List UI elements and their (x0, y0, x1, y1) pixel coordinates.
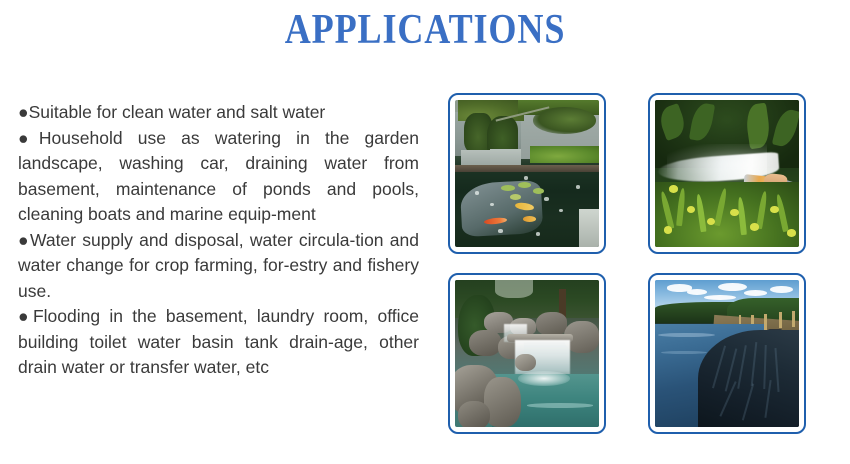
koi-fish-yellow (523, 216, 536, 222)
lily-pad (510, 194, 522, 200)
water-ripple (527, 403, 593, 407)
fence-post (764, 314, 767, 330)
rock-waterfall-photo (455, 280, 599, 427)
application-photo-grid (448, 93, 806, 434)
page-title: APPLICATIONS (60, 8, 791, 52)
applications-page: APPLICATIONS ●Suitable for clean water a… (0, 0, 850, 464)
photo-frame-rock-waterfall (448, 273, 606, 434)
hanging-vine (533, 107, 596, 133)
rock (469, 330, 501, 356)
fence-post (792, 311, 795, 327)
yellow-bud (664, 226, 673, 233)
water-sparkle (576, 185, 580, 189)
pond-curb (579, 209, 599, 247)
water-sparkle (498, 229, 502, 233)
cloud (704, 295, 736, 300)
water-sparkle (544, 197, 548, 201)
fence-post (779, 312, 782, 328)
water-sparkle (524, 176, 528, 180)
bullet-paragraph-1: ●Suitable for clean water and salt water (18, 100, 419, 126)
yellow-bud (770, 206, 779, 213)
rock (515, 354, 535, 372)
bullet-paragraph-2: ●Household use as watering in the garden… (18, 126, 419, 228)
lily-pad (533, 188, 545, 194)
yellow-bud (730, 209, 739, 216)
foreground-boulder (458, 401, 490, 427)
photo-frame-koi-pond (448, 93, 606, 254)
water-glint (661, 351, 707, 355)
water-sparkle (536, 232, 540, 236)
photo-frame-garden-hose (648, 93, 806, 254)
lined-reservoir-photo (655, 280, 799, 427)
photo-frame-lined-reservoir (648, 273, 806, 434)
water-sparkle (559, 209, 563, 213)
aquatic-plant-bed (530, 146, 599, 164)
water-foam (518, 371, 570, 386)
yellow-bud (787, 229, 796, 236)
yellow-bud (750, 223, 759, 230)
cloud (718, 283, 747, 291)
applications-text-block: ●Suitable for clean water and salt water… (18, 100, 419, 381)
garden-hose-spray-photo (655, 100, 799, 247)
bullet-paragraph-4: ●Flooding in the basement, laundry room,… (18, 304, 419, 381)
yellow-bud (669, 185, 678, 192)
rock (536, 312, 568, 336)
sky-gap (495, 280, 532, 298)
pond-ledge (455, 165, 599, 172)
cloud (687, 289, 707, 295)
koi-pond-photo (455, 100, 599, 247)
bullet-paragraph-3: ●Water supply and disposal, water circul… (18, 228, 419, 305)
